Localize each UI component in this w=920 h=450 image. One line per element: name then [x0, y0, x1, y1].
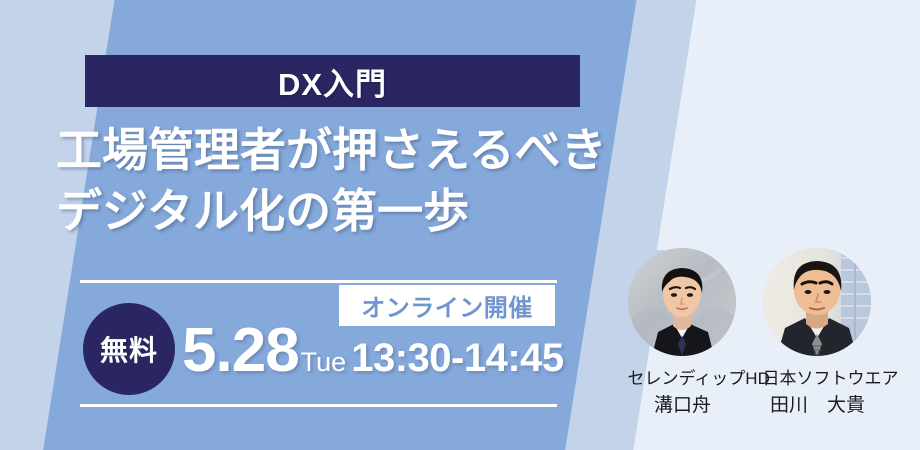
webinar-banner: DX入門 工場管理者が押さえるべき デジタル化の第一歩 無料 オンライン開催 5…: [0, 0, 920, 450]
divider-bottom: [80, 404, 557, 407]
headline-line-2: デジタル化の第一歩: [56, 181, 636, 242]
speaker-name: 溝口舟: [628, 394, 738, 418]
format-badge-label: オンライン開催: [361, 288, 533, 323]
speaker-list: セレンディップHD 溝口舟: [600, 248, 900, 418]
category-badge-label: DX入門: [278, 59, 387, 104]
price-badge-label: 無料: [100, 329, 158, 369]
headline-line-1: 工場管理者が押さえるべき: [56, 120, 636, 181]
event-date-weekday: Tue: [301, 349, 347, 376]
speaker-organization: 日本ソフトウエア: [763, 368, 873, 389]
divider-top: [80, 280, 557, 283]
speaker-item: セレンディップHD 溝口舟: [628, 248, 738, 418]
price-badge: 無料: [83, 303, 175, 395]
speaker-organization: セレンディップHD: [628, 368, 738, 389]
category-badge: DX入門: [85, 55, 580, 107]
page-title: 工場管理者が押さえるべき デジタル化の第一歩: [56, 120, 636, 242]
speaker-photo-mizoguchi: [628, 248, 736, 356]
speaker-name: 田川 大貴: [763, 394, 873, 418]
event-date-day: 5.28: [182, 320, 299, 382]
speaker-item: 日本ソフトウエア 田川 大貴: [763, 248, 873, 418]
event-datetime: 5.28 Tue 13:30-14:45: [182, 320, 564, 382]
speaker-photo-tagawa: [763, 248, 871, 356]
event-time-range: 13:30-14:45: [351, 338, 563, 378]
